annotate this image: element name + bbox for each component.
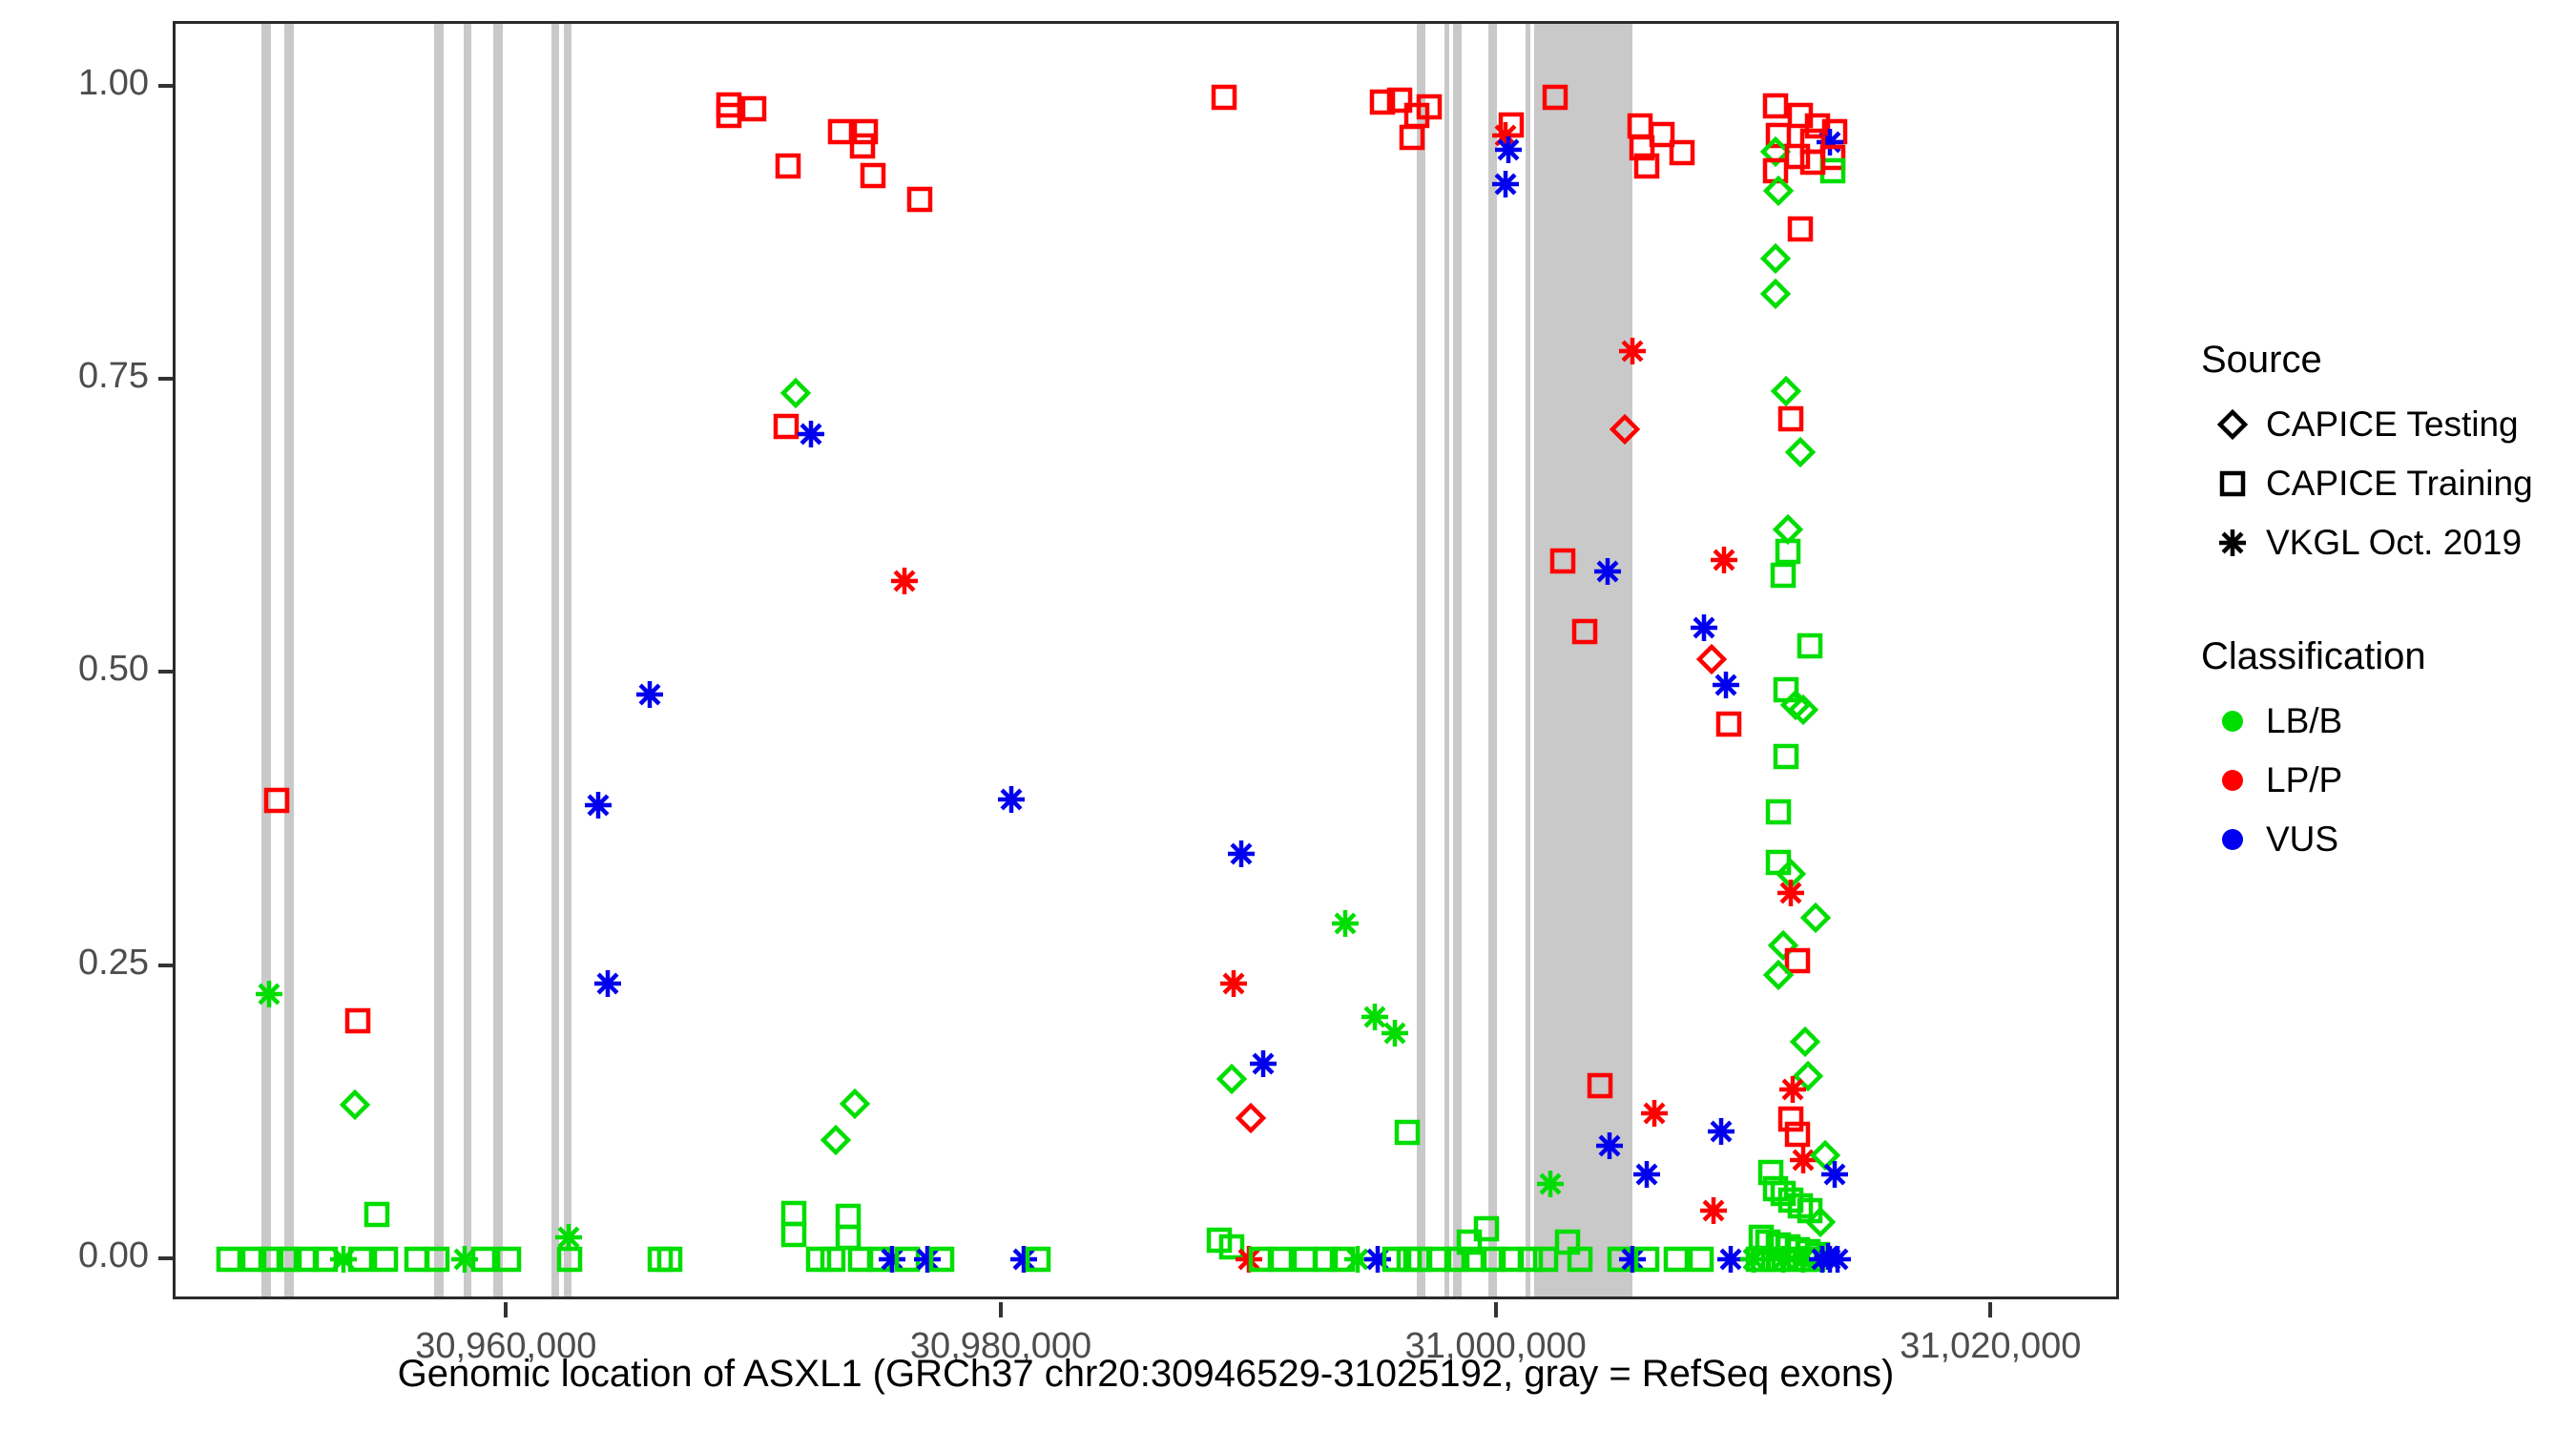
data-point-marker (737, 93, 770, 125)
data-point-marker (342, 1005, 374, 1037)
data-point-marker (795, 418, 827, 450)
data-point-marker (1638, 1097, 1671, 1130)
data-point-marker (1593, 1130, 1626, 1162)
legend-item-label: CAPICE Testing (2266, 404, 2519, 445)
data-point-marker (654, 1243, 686, 1275)
data-point-marker (1697, 1194, 1730, 1227)
data-point-marker (1489, 168, 1522, 200)
exon-band (1534, 24, 1564, 1296)
data-point-marker (1534, 1168, 1567, 1200)
data-point-marker (1591, 555, 1624, 588)
chart-root: CAPICE score (pathogenicity estimate) 0.… (0, 0, 2576, 1431)
data-point-marker (1767, 559, 1799, 591)
exon-band (434, 24, 444, 1296)
data-point-marker (1784, 436, 1817, 468)
data-point-marker (1762, 796, 1795, 828)
data-point-marker (1762, 175, 1795, 207)
data-point-marker (1208, 81, 1240, 114)
data-point-marker (1235, 1102, 1267, 1134)
data-point-marker (253, 978, 285, 1010)
y-axis-tick (158, 670, 173, 674)
data-point-marker (1776, 1073, 1809, 1106)
data-point-marker (1814, 1243, 1846, 1275)
color-dot-icon (2199, 705, 2266, 737)
data-point-marker (1787, 694, 1819, 726)
y-axis-tick-label: 0.50 (15, 649, 149, 690)
data-point-marker (1609, 413, 1641, 446)
data-point-marker (839, 1088, 871, 1120)
color-dot-icon (2199, 823, 2266, 856)
x-axis-tick (1494, 1302, 1498, 1317)
data-point-marker (1396, 121, 1428, 154)
data-point-marker (888, 565, 921, 597)
exon-band (1526, 24, 1530, 1296)
data-point-marker (1547, 545, 1579, 577)
exon-band (1417, 24, 1425, 1296)
data-point-marker (592, 967, 624, 1000)
data-point-marker (582, 789, 614, 821)
data-point-marker (1759, 242, 1792, 275)
exon-band (464, 24, 471, 1296)
legend-item-source[interactable]: CAPICE Testing (2199, 395, 2571, 454)
data-point-marker (1818, 1158, 1851, 1191)
data-point-marker (1022, 1243, 1054, 1275)
data-point-marker (1217, 967, 1250, 1000)
legend-item-label: CAPICE Training (2266, 464, 2533, 504)
diamond-icon (2199, 408, 2266, 441)
data-point-marker (1470, 1213, 1503, 1245)
legend: Source CAPICE TestingCAPICE TrainingVKGL… (2199, 339, 2571, 869)
data-point-marker (1713, 708, 1745, 740)
data-point-marker (369, 1243, 402, 1275)
exon-band (564, 24, 571, 1296)
x-axis-tick (999, 1302, 1003, 1317)
exon-band (284, 24, 294, 1296)
data-point-marker (846, 130, 879, 162)
data-point-marker (1492, 134, 1525, 166)
data-point-marker (1799, 902, 1832, 934)
data-point-marker (904, 183, 936, 216)
y-axis-tick-label: 0.75 (15, 356, 149, 397)
data-point-marker (1666, 136, 1698, 169)
data-point-marker (1631, 150, 1663, 182)
y-axis-tick (158, 377, 173, 381)
legend-item-classification[interactable]: VUS (2199, 810, 2571, 869)
data-point-marker (1631, 1243, 1663, 1275)
data-point-marker (1789, 1026, 1821, 1058)
y-axis-tick (158, 1256, 173, 1260)
data-point-marker (1616, 335, 1649, 367)
data-point-marker (339, 1089, 371, 1121)
asterisk-icon (2199, 527, 2266, 559)
exon-band (1444, 24, 1448, 1296)
data-point-marker (492, 1243, 525, 1275)
legend-item-classification[interactable]: LP/P (2199, 751, 2571, 810)
data-point-marker (1794, 630, 1826, 662)
legend-classification-title: Classification (2201, 635, 2571, 678)
data-point-marker (1770, 740, 1802, 773)
exon-band (261, 24, 271, 1296)
data-point-marker (1759, 278, 1792, 310)
data-point-marker (1215, 1063, 1248, 1095)
data-point-marker (1329, 907, 1361, 940)
data-point-marker (1710, 669, 1742, 701)
data-point-marker (1247, 1047, 1279, 1080)
legend-classification-group: LB/BLP/PVUS (2199, 692, 2571, 869)
data-point-marker (1539, 81, 1571, 114)
exon-band (1488, 24, 1498, 1296)
data-point-marker (553, 1243, 586, 1275)
data-point-marker (1775, 403, 1807, 435)
y-axis-tick (158, 964, 173, 967)
data-point-marker (1705, 1115, 1737, 1148)
data-point-marker (779, 377, 812, 409)
data-point-marker (1423, 1243, 1455, 1275)
data-point-marker (1413, 91, 1445, 123)
data-point-marker (260, 784, 293, 817)
exon-band (493, 24, 503, 1296)
plot-panel (173, 21, 2119, 1299)
square-icon (2199, 467, 2266, 500)
data-point-marker (772, 150, 804, 182)
y-axis-tick-label: 1.00 (15, 63, 149, 104)
legend-item-source[interactable]: CAPICE Training (2199, 454, 2571, 513)
data-point-marker (1762, 959, 1795, 991)
legend-source-group: CAPICE TestingCAPICE TrainingVKGL Oct. 2… (2199, 395, 2571, 572)
data-point-marker (1584, 1069, 1616, 1102)
data-point-marker (361, 1198, 393, 1231)
data-point-marker (1568, 615, 1601, 648)
data-point-marker (1391, 1116, 1423, 1149)
y-axis-tick-label: 0.25 (15, 943, 149, 984)
legend-source-title: Source (2201, 339, 2571, 382)
data-point-marker (1685, 1243, 1717, 1275)
legend-item-label: VKGL Oct. 2019 (2266, 523, 2522, 563)
x-axis-tick (504, 1302, 508, 1317)
data-point-marker (1797, 146, 1829, 178)
data-point-marker (634, 678, 666, 711)
color-dot-icon (2199, 764, 2266, 797)
data-point-marker (1688, 612, 1720, 644)
exon-band (1561, 24, 1631, 1296)
data-point-marker (1225, 838, 1257, 870)
x-axis-title: Genomic location of ASXL1 (GRCh37 chr20:… (173, 1353, 2119, 1396)
y-axis-tick (158, 84, 173, 88)
legend-item-source[interactable]: VKGL Oct. 2019 (2199, 513, 2571, 572)
data-point-marker (1708, 544, 1740, 576)
data-point-marker (925, 1243, 958, 1275)
exon-band (551, 24, 559, 1296)
exon-band (1453, 24, 1463, 1296)
data-point-marker (857, 159, 889, 192)
data-point-marker (1379, 1017, 1411, 1049)
x-axis-tick (1988, 1302, 1992, 1317)
legend-item-label: LB/B (2266, 701, 2342, 741)
data-point-marker (820, 1124, 852, 1156)
y-axis-tick-label: 0.00 (15, 1235, 149, 1276)
data-point-marker (1784, 213, 1817, 245)
legend-item-label: LP/P (2266, 760, 2342, 800)
legend-item-label: VUS (2266, 819, 2338, 860)
legend-item-classification[interactable]: LB/B (2199, 692, 2571, 751)
data-point-marker (1631, 1158, 1663, 1191)
data-point-marker (995, 783, 1028, 816)
